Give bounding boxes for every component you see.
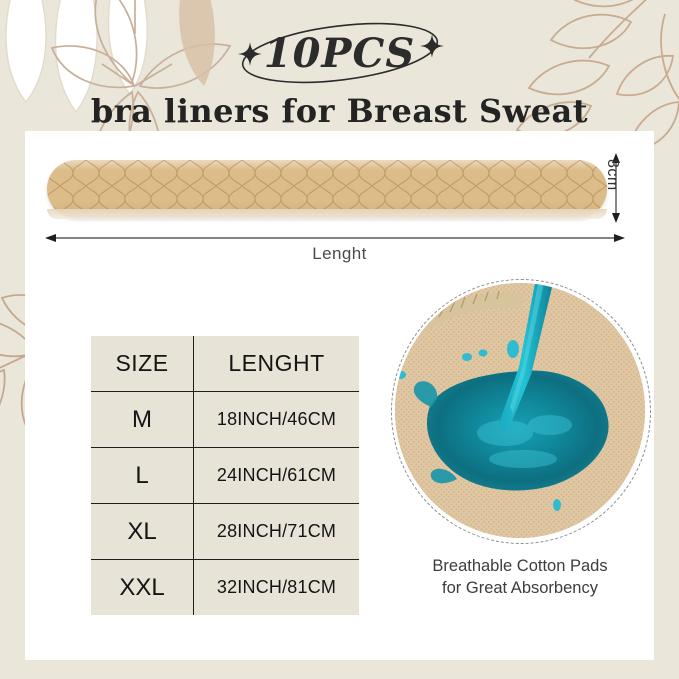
size-chart-table: SIZE LENGHT M 18INCH/46CM L 24INCH/61CM … <box>91 336 359 615</box>
product-infographic: 10PCS bra liners for Breast Sweat Lenght <box>0 0 679 679</box>
table-row: XXL 32INCH/81CM <box>91 560 359 616</box>
absorbency-caption: Breathable Cotton Pads for Great Absorbe… <box>360 555 679 600</box>
cell-length: 24INCH/61CM <box>194 448 360 504</box>
pieces-badge-text: 10PCS <box>0 30 679 77</box>
table-row: L 24INCH/61CM <box>91 448 359 504</box>
length-value: 24INCH/61CM <box>217 465 336 485</box>
length-label: Lenght <box>25 244 654 264</box>
size-value: L <box>135 462 148 489</box>
length-value: 18INCH/46CM <box>217 409 336 429</box>
photo-dashed-border <box>391 279 651 544</box>
caption-line-2: for Great Absorbency <box>360 577 679 599</box>
cell-length: 28INCH/71CM <box>194 504 360 560</box>
column-header-size: SIZE <box>91 336 194 392</box>
size-value: XXL <box>119 574 164 601</box>
length-value: 28INCH/71CM <box>217 521 336 541</box>
cell-length: 18INCH/46CM <box>194 392 360 448</box>
table-header-row: SIZE LENGHT <box>91 336 359 392</box>
page-title: bra liners for Breast Sweat <box>0 92 679 130</box>
size-value: M <box>132 406 152 433</box>
height-label: 8cm <box>603 159 621 191</box>
size-value: XL <box>127 518 156 545</box>
cell-size: L <box>91 448 194 504</box>
caption-line-1: Breathable Cotton Pads <box>360 555 679 577</box>
cell-size: XL <box>91 504 194 560</box>
column-header-length: LENGHT <box>194 336 360 392</box>
content-panel: Lenght 8cm SIZE LENGHT M 18INCH/46CM L <box>25 131 654 660</box>
length-value: 32INCH/81CM <box>217 577 336 597</box>
absorbency-photo <box>395 283 645 538</box>
cell-size: XXL <box>91 560 194 616</box>
table-row: XL 28INCH/71CM <box>91 504 359 560</box>
header: 10PCS bra liners for Breast Sweat <box>0 14 679 124</box>
strip-bottom-edge <box>47 209 607 219</box>
table-row: M 18INCH/46CM <box>91 392 359 448</box>
cell-length: 32INCH/81CM <box>194 560 360 616</box>
cell-size: M <box>91 392 194 448</box>
